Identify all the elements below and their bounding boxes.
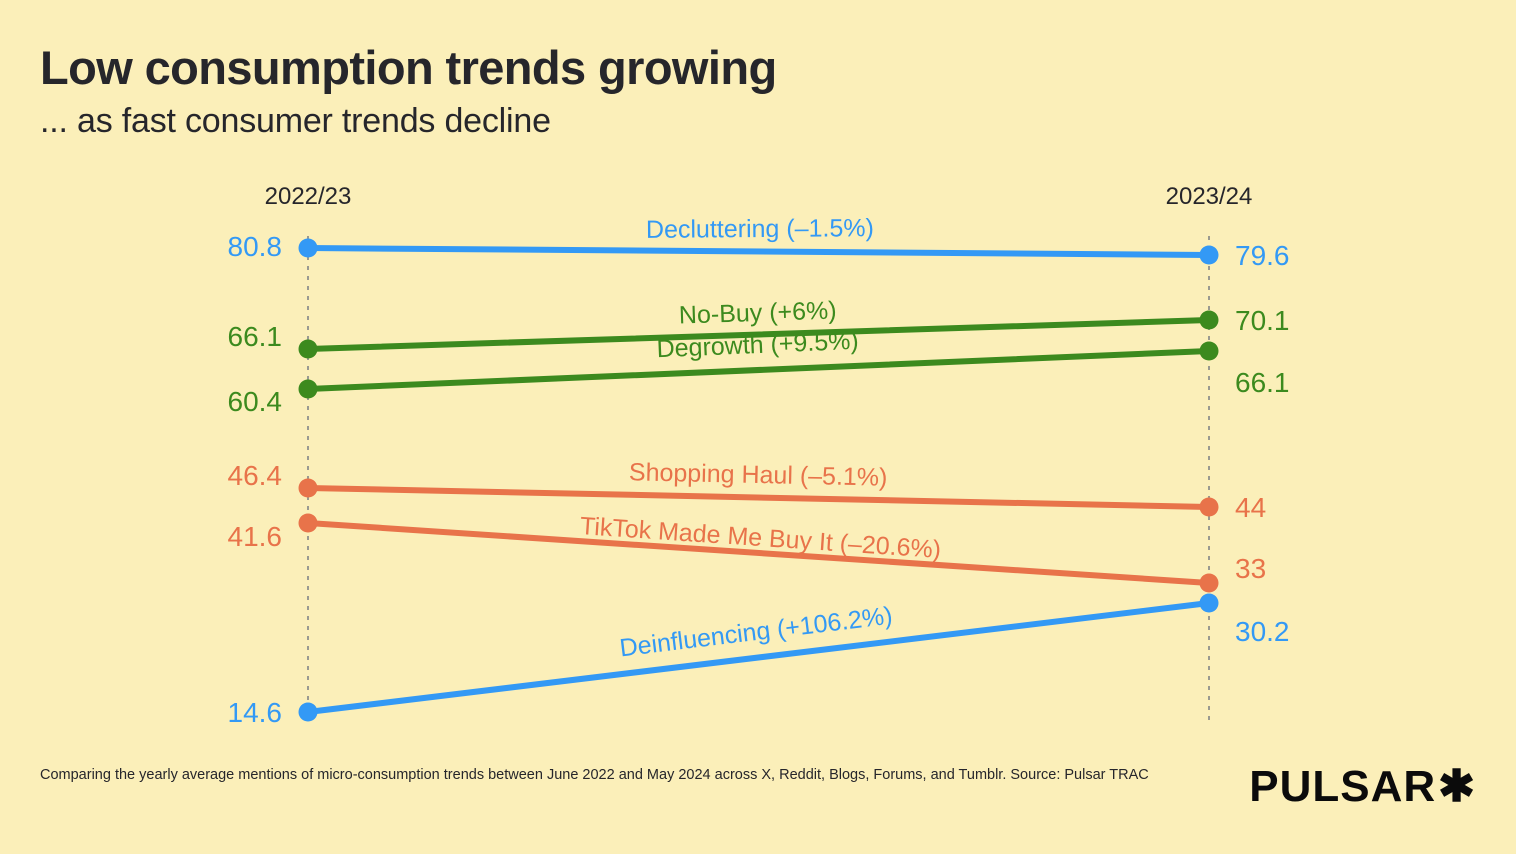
value-label-left: 80.8 — [228, 231, 283, 262]
value-label-right: 30.2 — [1235, 616, 1290, 647]
logo-wordmark: PULSAR — [1249, 762, 1436, 812]
axis-header-left: 2022/23 — [265, 183, 352, 211]
data-point[interactable] — [299, 239, 318, 258]
series-label: TikTok Made Me Buy It (–20.6%) — [579, 512, 942, 564]
series-label: Decluttering (–1.5%) — [646, 214, 874, 244]
footer-note: Comparing the yearly average mentions of… — [40, 765, 1230, 787]
data-point[interactable] — [1200, 342, 1219, 361]
series-line — [308, 248, 1209, 255]
data-point[interactable] — [299, 479, 318, 498]
axis-header-right: 2023/24 — [1166, 183, 1253, 211]
data-point[interactable] — [1200, 246, 1219, 265]
value-label-left: 66.1 — [228, 321, 283, 352]
data-point[interactable] — [1200, 498, 1219, 517]
pulsar-logo: PULSAR ✱ — [1249, 762, 1476, 812]
series-label: Deinfluencing (+106.2%) — [618, 602, 894, 663]
data-point[interactable] — [299, 703, 318, 722]
value-label-left: 46.4 — [228, 460, 283, 491]
value-label-right: 79.6 — [1235, 240, 1290, 271]
value-label-right: 44 — [1235, 492, 1266, 523]
data-point[interactable] — [1200, 594, 1219, 613]
slope-chart: 80.879.6Decluttering (–1.5%)66.170.1No-B… — [0, 0, 1516, 854]
value-label-right: 70.1 — [1235, 305, 1290, 336]
value-label-left: 41.6 — [228, 521, 283, 552]
value-label-left: 14.6 — [228, 697, 283, 728]
value-label-left: 60.4 — [228, 386, 283, 417]
value-label-right: 66.1 — [1235, 367, 1290, 398]
data-point[interactable] — [1200, 311, 1219, 330]
data-point[interactable] — [299, 380, 318, 399]
series-line — [308, 488, 1209, 507]
value-label-right: 33 — [1235, 553, 1266, 584]
slope-chart-page: Low consumption trends growing ... as fa… — [0, 0, 1516, 854]
series-label: No-Buy (+6%) — [678, 296, 837, 329]
data-point[interactable] — [299, 514, 318, 533]
data-point[interactable] — [299, 340, 318, 359]
asterisk-icon: ✱ — [1438, 765, 1476, 809]
data-point[interactable] — [1200, 574, 1219, 593]
series-label: Shopping Haul (–5.1%) — [629, 458, 888, 491]
series-label: Degrowth (+9.5%) — [656, 327, 859, 363]
